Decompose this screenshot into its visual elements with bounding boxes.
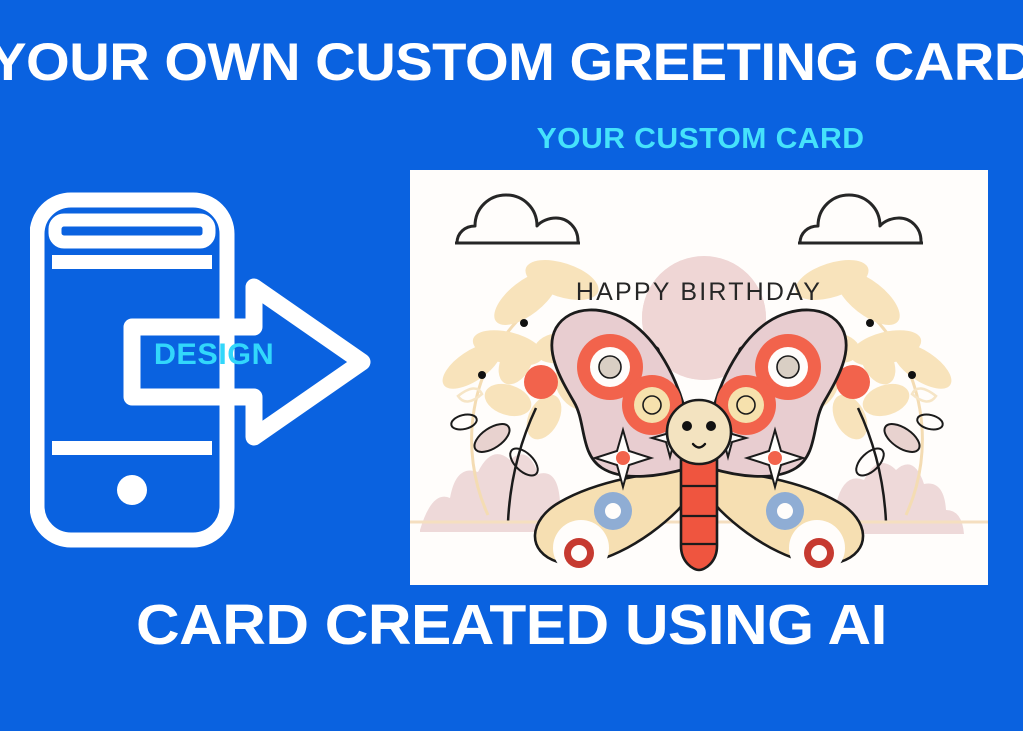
butterfly-head bbox=[667, 400, 731, 464]
butterfly-body bbox=[681, 458, 717, 570]
page-title-top: YOUR OWN CUSTOM GREETING CARD bbox=[0, 36, 1023, 89]
card-illustration: HAPPY BIRTHDAY bbox=[410, 170, 988, 585]
design-arrow-label: DESIGN bbox=[154, 340, 274, 370]
poster-canvas: YOUR OWN CUSTOM GREETING CARD YOUR CUSTO… bbox=[0, 0, 1023, 731]
card-greeting-text: HAPPY BIRTHDAY bbox=[576, 278, 822, 306]
card-subtitle: YOUR CUSTOM CARD bbox=[402, 125, 1000, 154]
generated-greeting-card[interactable]: HAPPY BIRTHDAY bbox=[410, 170, 988, 585]
page-title-bottom: CARD CREATED USING AI bbox=[0, 597, 1023, 654]
